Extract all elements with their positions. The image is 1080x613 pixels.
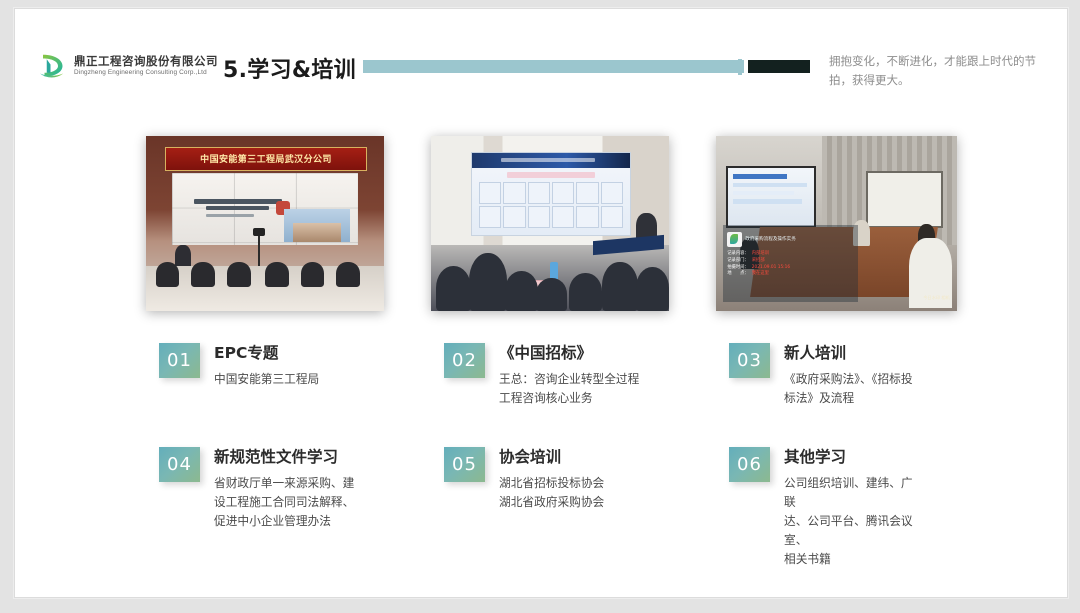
item-detail: 《政府采购法》、《招标投 标法》及流程	[784, 370, 913, 408]
training-item-06[interactable]: 06 其他学习 公司组织培训、建纬、广联 达、公司平台、腾讯会议室、 相关书籍	[729, 447, 919, 569]
item-number-badge: 03	[729, 343, 770, 378]
item-number-badge: 06	[729, 447, 770, 482]
item-detail: 公司组织培训、建纬、广联 达、公司平台、腾讯会议室、 相关书籍	[784, 474, 919, 569]
item-heading: EPC专题	[214, 344, 319, 363]
item-detail: 中国安能第三工程局	[214, 370, 319, 389]
item-heading: 新人培训	[784, 344, 913, 363]
item-number-badge: 02	[444, 343, 485, 378]
item-number-badge: 04	[159, 447, 200, 482]
training-item-04[interactable]: 04 新规范性文件学习 省财政厅单一来源采购、建 设工程施工合同司法解释、 促进…	[159, 447, 409, 531]
item-heading: 新规范性文件学习	[214, 448, 354, 467]
item-number-badge: 01	[159, 343, 200, 378]
training-item-02[interactable]: 02 《中国招标》 王总：咨询企业转型全过程 工程咨询核心业务	[444, 343, 694, 408]
training-item-03[interactable]: 03 新人培训 《政府采购法》、《招标投 标法》及流程	[729, 343, 919, 408]
item-heading: 《中国招标》	[499, 344, 639, 363]
item-heading: 其他学习	[784, 448, 919, 467]
item-heading: 协会培训	[499, 448, 604, 467]
item-detail: 王总：咨询企业转型全过程 工程咨询核心业务	[499, 370, 639, 408]
item-detail: 湖北省招标投标协会 湖北省政府采购协会	[499, 474, 604, 512]
training-item-grid: 01 EPC专题 中国安能第三工程局 02 《中国招标》 王总：咨询企业转型全过…	[15, 9, 1067, 597]
slide-canvas: 鼎正工程咨询股份有限公司 Dingzheng Engineering Consu…	[14, 8, 1068, 598]
item-number-badge: 05	[444, 447, 485, 482]
training-item-01[interactable]: 01 EPC专题 中国安能第三工程局	[159, 343, 409, 389]
training-item-05[interactable]: 05 协会培训 湖北省招标投标协会 湖北省政府采购协会	[444, 447, 694, 512]
item-detail: 省财政厅单一来源采购、建 设工程施工合同司法解释、 促进中小企业管理办法	[214, 474, 354, 531]
